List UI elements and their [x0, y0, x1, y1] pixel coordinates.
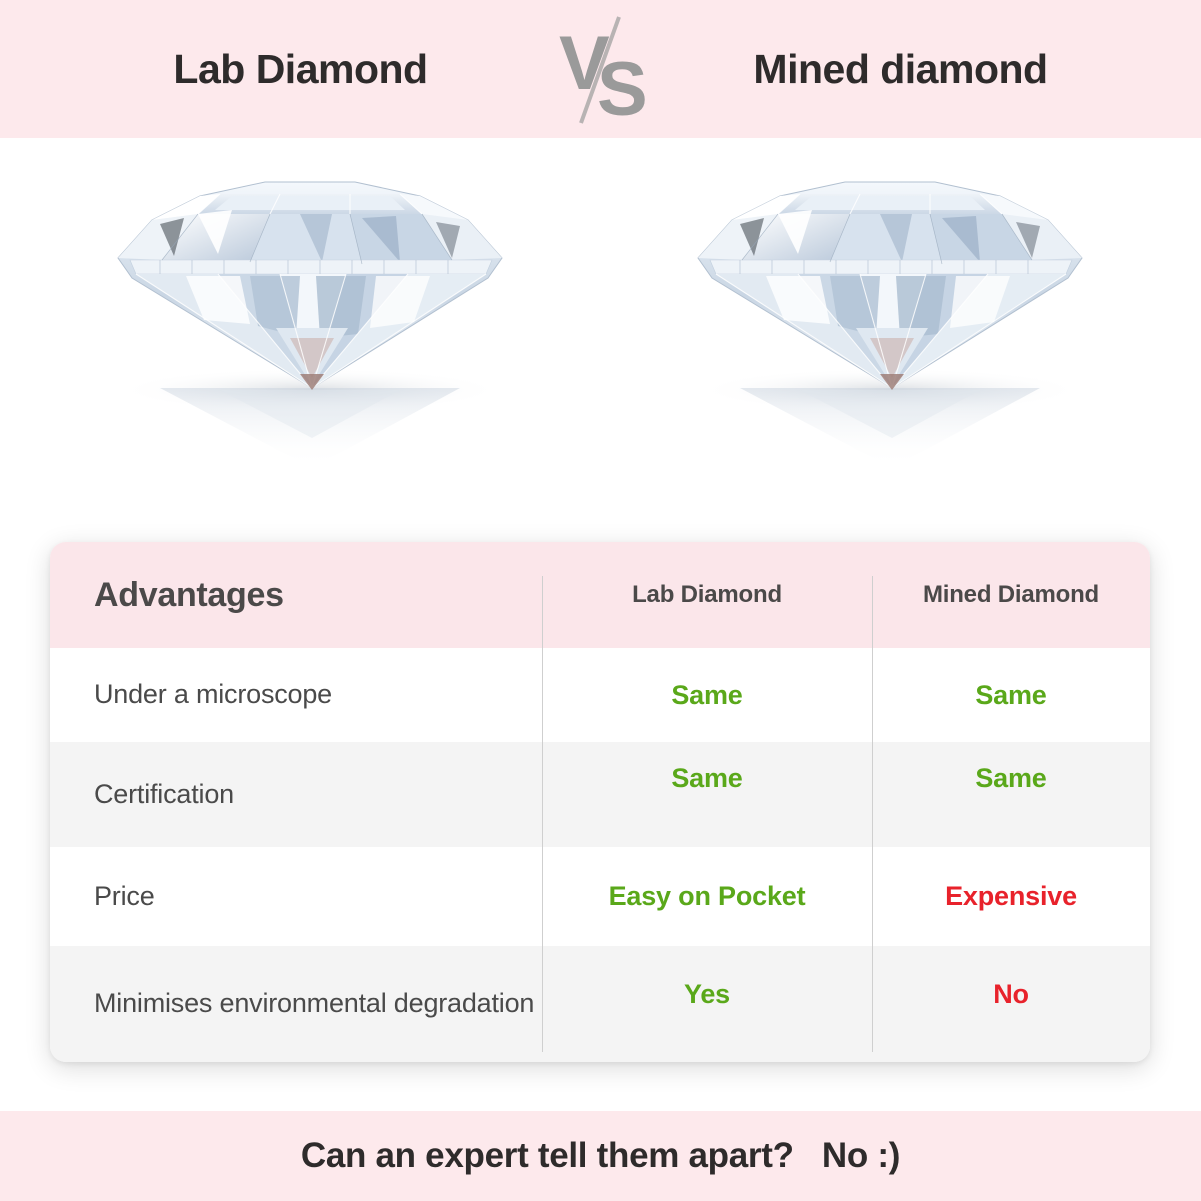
row-lab-value: Same: [671, 763, 742, 794]
column-divider-1: [542, 576, 543, 1052]
row-feature-cell: Certification: [50, 742, 542, 847]
table-row: Under a microscope Same Same: [50, 648, 1150, 742]
row-lab-cell: Yes: [542, 946, 872, 1062]
column-divider-2: [872, 576, 873, 1052]
infographic-page: Lab Diamond V S Mined diamond: [0, 0, 1201, 1201]
row-feature-label: Price: [94, 879, 155, 915]
header-banner-inner: Lab Diamond V S Mined diamond: [0, 0, 1201, 138]
footer-text: Can an expert tell them apart? No :): [301, 1136, 900, 1176]
diamond-illustration: [100, 138, 520, 538]
lab-diamond-image: [100, 138, 520, 538]
vs-badge: V S: [536, 9, 666, 129]
row-feature-label: Minimises environmental degradation: [94, 986, 534, 1022]
diamond-illustration: [680, 138, 1100, 538]
diamond-image-row: [0, 138, 1201, 538]
row-mined-value: Same: [975, 763, 1046, 794]
header-label-mined: Mined Diamond: [923, 581, 1099, 609]
row-feature-label: Under a microscope: [94, 677, 332, 713]
mined-diamond-image: [680, 138, 1100, 538]
row-mined-cell: Same: [872, 648, 1150, 742]
vs-icon: V S: [541, 9, 661, 129]
row-lab-value: Easy on Pocket: [609, 881, 806, 912]
header-label-advantages: Advantages: [94, 576, 284, 615]
row-lab-value: Yes: [684, 979, 730, 1010]
row-mined-value: Expensive: [945, 881, 1077, 912]
row-lab-cell: Same: [542, 648, 872, 742]
table-header-row: Advantages Lab Diamond Mined Diamond: [50, 542, 1150, 648]
header-banner: Lab Diamond V S Mined diamond: [0, 0, 1201, 138]
row-lab-cell: Same: [542, 742, 872, 847]
row-lab-value: Same: [671, 680, 742, 711]
row-mined-cell: Expensive: [872, 847, 1150, 946]
header-cell-lab: Lab Diamond: [542, 542, 872, 648]
table-row: Minimises environmental degradation Yes …: [50, 946, 1150, 1062]
row-feature-cell: Minimises environmental degradation: [50, 946, 542, 1062]
row-mined-cell: Same: [872, 742, 1150, 847]
lab-diamond-title: Lab Diamond: [66, 46, 536, 93]
row-mined-cell: No: [872, 946, 1150, 1062]
header-cell-mined: Mined Diamond: [872, 542, 1150, 648]
row-feature-cell: Price: [50, 847, 542, 946]
table-row: Price Easy on Pocket Expensive: [50, 847, 1150, 946]
row-mined-value: No: [993, 979, 1029, 1010]
footer-banner: Can an expert tell them apart? No :): [0, 1111, 1201, 1201]
header-cell-advantages: Advantages: [50, 542, 542, 648]
header-label-lab: Lab Diamond: [632, 581, 782, 609]
comparison-table: Advantages Lab Diamond Mined Diamond Und…: [50, 542, 1150, 1062]
table-row: Certification Same Same: [50, 742, 1150, 847]
row-lab-cell: Easy on Pocket: [542, 847, 872, 946]
row-feature-label: Certification: [94, 777, 234, 813]
mined-diamond-title: Mined diamond: [666, 46, 1136, 93]
row-mined-value: Same: [975, 680, 1046, 711]
row-feature-cell: Under a microscope: [50, 648, 542, 742]
